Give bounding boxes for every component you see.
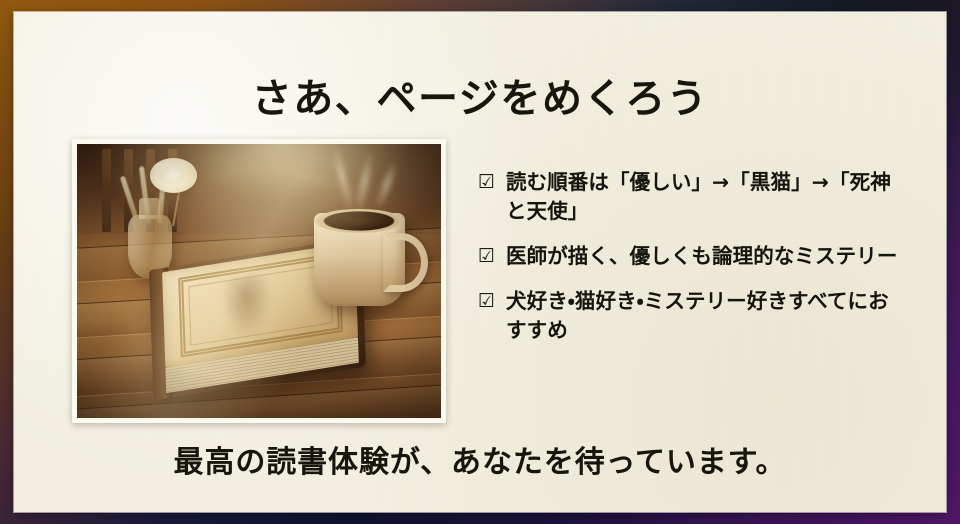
- page-title: さあ、ページをめくろう: [14, 77, 946, 121]
- checked-box-icon: ☑: [478, 168, 506, 197]
- list-item: ☑ 犬好き・猫好き・ミステリー好きすべてにおすすめ: [478, 287, 908, 345]
- list-item: ☑ 読む順番は「優しい」→「黒猫」→「死神と天使」: [478, 168, 908, 226]
- checked-box-icon: ☑: [478, 242, 506, 271]
- chair-slat-icon: [102, 149, 111, 231]
- coffee-cup-icon: [314, 213, 405, 306]
- list-item: ☑ 医師が描く、優しくも論理的なミステリー: [478, 242, 908, 271]
- closing-message: 最高の読書体験が、あなたを待っています。: [14, 446, 946, 481]
- slide-paper-canvas: さあ、ページをめくろう: [14, 12, 946, 512]
- hero-photo-image: [77, 144, 441, 418]
- list-item-label: 医師が描く、優しくも論理的なミステリー: [506, 242, 908, 271]
- hero-photo-frame: [72, 139, 446, 423]
- slide-outer-frame: さあ、ページをめくろう: [0, 0, 960, 524]
- highlight-bullet-list: ☑ 読む順番は「優しい」→「黒猫」→「死神と天使」 ☑ 医師が描く、優しくも論理…: [478, 168, 908, 345]
- list-item-label: 犬好き・猫好き・ミステリー好きすべてにおすすめ: [506, 287, 908, 345]
- white-rose-icon: [150, 158, 197, 194]
- checked-box-icon: ☑: [478, 287, 506, 316]
- book-cover-shadow: [220, 272, 272, 339]
- list-item-label: 読む順番は「優しい」→「黒猫」→「死神と天使」: [506, 168, 908, 226]
